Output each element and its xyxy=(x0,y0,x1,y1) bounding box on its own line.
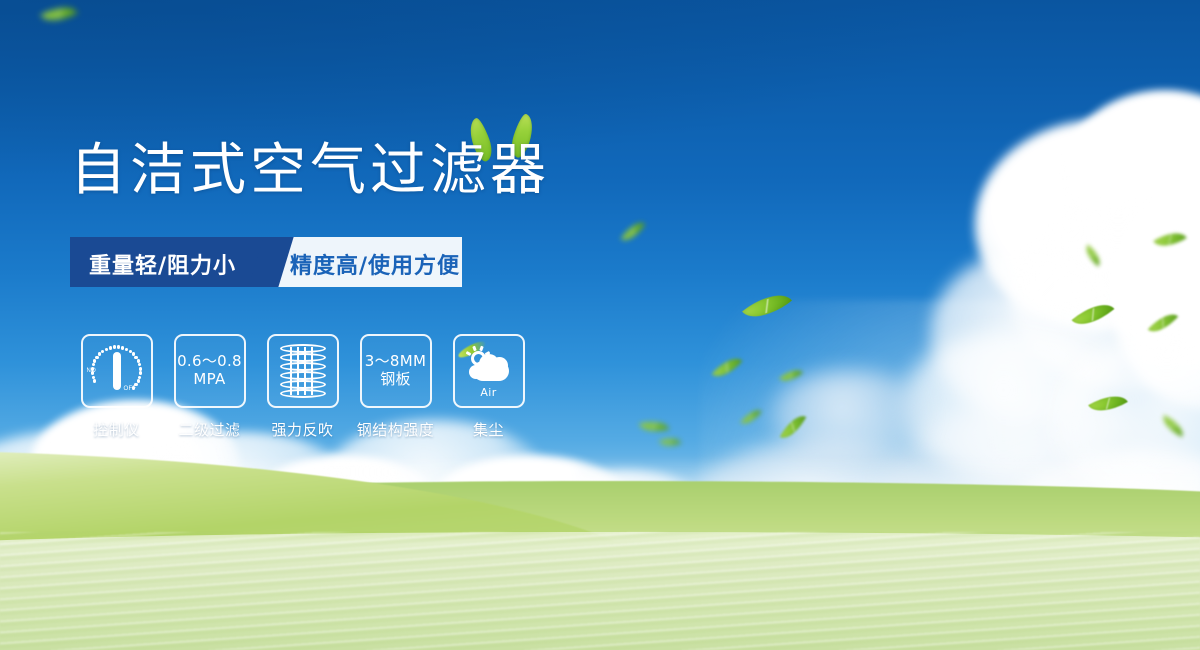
cloud-blob xyxy=(930,250,1130,420)
leaf-vein xyxy=(1161,417,1185,436)
steel-material: 钢板 xyxy=(365,371,426,389)
feature-item-blowback[interactable]: 强力反吹 xyxy=(256,334,349,440)
subtitle-right-segment: 精度高/使用方便 xyxy=(270,237,462,287)
blowback-coil-icon xyxy=(280,344,326,398)
cloud-blob xyxy=(250,455,440,555)
feature-label: 控制仪 xyxy=(93,419,140,440)
steel-thickness: 3～8MM xyxy=(365,352,426,370)
leaf-blade xyxy=(1072,294,1115,334)
gauge-tick-dot xyxy=(95,356,98,359)
gauge-tick-dot xyxy=(92,376,95,379)
page-title: 自洁式空气过滤器 xyxy=(70,143,550,199)
leaf-blade xyxy=(659,434,681,450)
leaf-blade xyxy=(780,410,806,443)
leaf-vein xyxy=(43,1,75,26)
leaf-blade xyxy=(621,217,646,246)
gauge-tick-dot xyxy=(117,345,120,348)
leaf-blade xyxy=(779,364,803,387)
leaf-blade xyxy=(740,405,761,428)
coil-bar xyxy=(304,347,306,395)
leaf-vein xyxy=(781,366,801,385)
gauge-tick-dot xyxy=(91,371,94,374)
feature-list: NO OFF 控制仪 0.6～0.8 MPA 二级过滤 强力反吹 xyxy=(70,334,535,440)
leaf-blade xyxy=(639,417,669,436)
leaf-icon xyxy=(712,351,743,384)
cloud-blob xyxy=(120,432,360,552)
leaf-icon xyxy=(621,217,646,246)
gauge-tick-dot xyxy=(132,386,135,389)
leaf-icon xyxy=(639,417,669,436)
gauge-tick-dot xyxy=(91,367,94,370)
coil-ring xyxy=(280,353,326,362)
coil-bar xyxy=(290,347,292,395)
coil-ring xyxy=(280,389,326,398)
leaf-icon xyxy=(780,410,806,443)
field-texture xyxy=(0,532,1200,650)
gauge-tick-dot xyxy=(139,367,142,370)
cloud-blob xyxy=(1110,180,1200,410)
feature-label: 集尘 xyxy=(473,419,504,440)
cloud-blob xyxy=(690,440,950,570)
gauge-tick-dot xyxy=(134,383,137,386)
air-label: Air xyxy=(461,386,517,399)
cloud-blob xyxy=(0,430,230,580)
coil-ring xyxy=(280,344,326,353)
leaf-icon xyxy=(740,405,761,428)
gauge-tick-dot xyxy=(92,363,95,366)
subtitle-left-text: 重量轻/阻力小 xyxy=(89,248,236,280)
cloud-blob xyxy=(620,495,770,560)
gauge-tick-dot xyxy=(121,346,124,349)
feature-label: 二级过滤 xyxy=(178,419,240,440)
gauge-tick-dot xyxy=(125,348,128,351)
leaf-vein xyxy=(1075,298,1111,332)
leaf-vein xyxy=(1091,390,1124,417)
gauge-tick-dot xyxy=(138,363,141,366)
left-hill xyxy=(0,450,680,650)
coil-bar xyxy=(297,347,299,395)
leaf-icon xyxy=(1072,294,1115,334)
horizon-glow xyxy=(0,456,1200,512)
leaf-blade xyxy=(1081,244,1105,266)
subtitle-badge: 精度高/使用方便 重量轻/阻力小 xyxy=(70,237,462,287)
leaf-icon xyxy=(1159,415,1188,437)
feature-item-two-stage-filter[interactable]: 0.6～0.8 MPA 二级过滤 xyxy=(163,334,256,440)
sun-ray-icon xyxy=(479,345,484,351)
gauge-tick-dot xyxy=(105,348,108,351)
steel-text-icon: 3～8MM 钢板 xyxy=(365,353,426,388)
pressure-text-icon: 0.6～0.8 MPA xyxy=(177,353,242,388)
feature-item-controller[interactable]: NO OFF 控制仪 xyxy=(70,334,163,440)
gauge-tick-dot xyxy=(137,359,140,362)
blowback-icon-box xyxy=(267,334,339,408)
leaf-vein xyxy=(1150,310,1176,337)
leaf-blade xyxy=(1088,387,1128,420)
leaf-blade xyxy=(40,0,78,29)
cloud-blob xyxy=(770,370,930,460)
leaf-icon xyxy=(1081,244,1105,266)
controller-icon-box: NO OFF xyxy=(81,334,153,408)
leaf-blade xyxy=(1153,225,1186,254)
far-hill xyxy=(0,481,1200,650)
leaf-blade xyxy=(1148,307,1178,339)
cloud-blob xyxy=(880,400,1200,580)
leaf-vein xyxy=(782,413,804,441)
gauge-tick-dot xyxy=(101,350,104,353)
feature-item-steel-strength[interactable]: 3～8MM 钢板 钢结构强度 xyxy=(349,334,442,440)
gauge-tick-dot xyxy=(113,345,116,348)
leaf-icon xyxy=(779,364,803,387)
subtitle-left-segment: 重量轻/阻力小 xyxy=(70,237,270,287)
cloud-blob xyxy=(540,470,710,550)
gauge-tick-dot xyxy=(98,352,101,355)
product-banner: 自洁式空气过滤器 精度高/使用方便 重量轻/阻力小 NO OFF 控制仪 xyxy=(0,0,1200,650)
cloud-blob xyxy=(1060,90,1200,270)
leaf-icon xyxy=(742,283,792,329)
feature-item-dust-collection[interactable]: Air 集尘 xyxy=(442,334,535,440)
gauge-tick-dot xyxy=(109,346,112,349)
cloud-blob xyxy=(975,120,1200,330)
leaf-vein xyxy=(641,418,666,434)
gauge-tick-dot xyxy=(138,376,141,379)
leaf-vein xyxy=(714,354,740,381)
leaf-icon xyxy=(40,0,78,29)
gauge-tick-dot xyxy=(93,359,96,362)
leaf-icon xyxy=(1153,225,1186,254)
dust-icon-box: Air xyxy=(453,334,525,408)
coil-bar xyxy=(311,347,313,395)
leaf-icon xyxy=(1148,307,1178,339)
leaf-vein xyxy=(1083,246,1103,265)
sun-glow xyxy=(700,300,1200,650)
coil-ring xyxy=(280,371,326,380)
leaf-vein xyxy=(661,435,680,449)
leaf-blade xyxy=(712,351,743,384)
leaf-icon xyxy=(659,434,681,450)
leaf-vein xyxy=(1156,227,1184,251)
steel-icon-box: 3～8MM 钢板 xyxy=(360,334,432,408)
cloud-air-icon: Air xyxy=(461,347,517,395)
coil-ring xyxy=(280,362,326,371)
leaf-vein xyxy=(746,287,788,325)
leaf-icon xyxy=(1088,387,1128,420)
gauge-needle xyxy=(113,352,121,390)
coil-ring xyxy=(280,380,326,389)
cloud-blob xyxy=(1050,330,1200,510)
cloud-blob xyxy=(900,330,1130,480)
cloud-blob xyxy=(1000,450,1200,600)
cloud-blob xyxy=(1010,200,1200,390)
pressure-icon-box: 0.6～0.8 MPA xyxy=(174,334,246,408)
feature-label: 钢结构强度 xyxy=(357,419,435,440)
pressure-unit: MPA xyxy=(177,371,242,389)
foreground-field xyxy=(0,532,1200,650)
cloud-base xyxy=(473,361,509,381)
leaf-vein xyxy=(742,407,760,427)
leaf-vein xyxy=(623,219,644,243)
subtitle-right-text: 精度高/使用方便 xyxy=(290,248,460,280)
feature-label: 强力反吹 xyxy=(271,419,333,440)
gauge-icon: NO OFF xyxy=(86,340,148,402)
leaf-blade xyxy=(742,283,792,329)
cloud-blob xyxy=(430,455,630,550)
gauge-tick-dot xyxy=(139,371,142,374)
sky-vignette xyxy=(0,0,1200,240)
leaf-blade xyxy=(1159,415,1188,437)
gauge-tick-dot xyxy=(93,379,96,382)
pressure-value: 0.6～0.8 xyxy=(177,352,242,370)
